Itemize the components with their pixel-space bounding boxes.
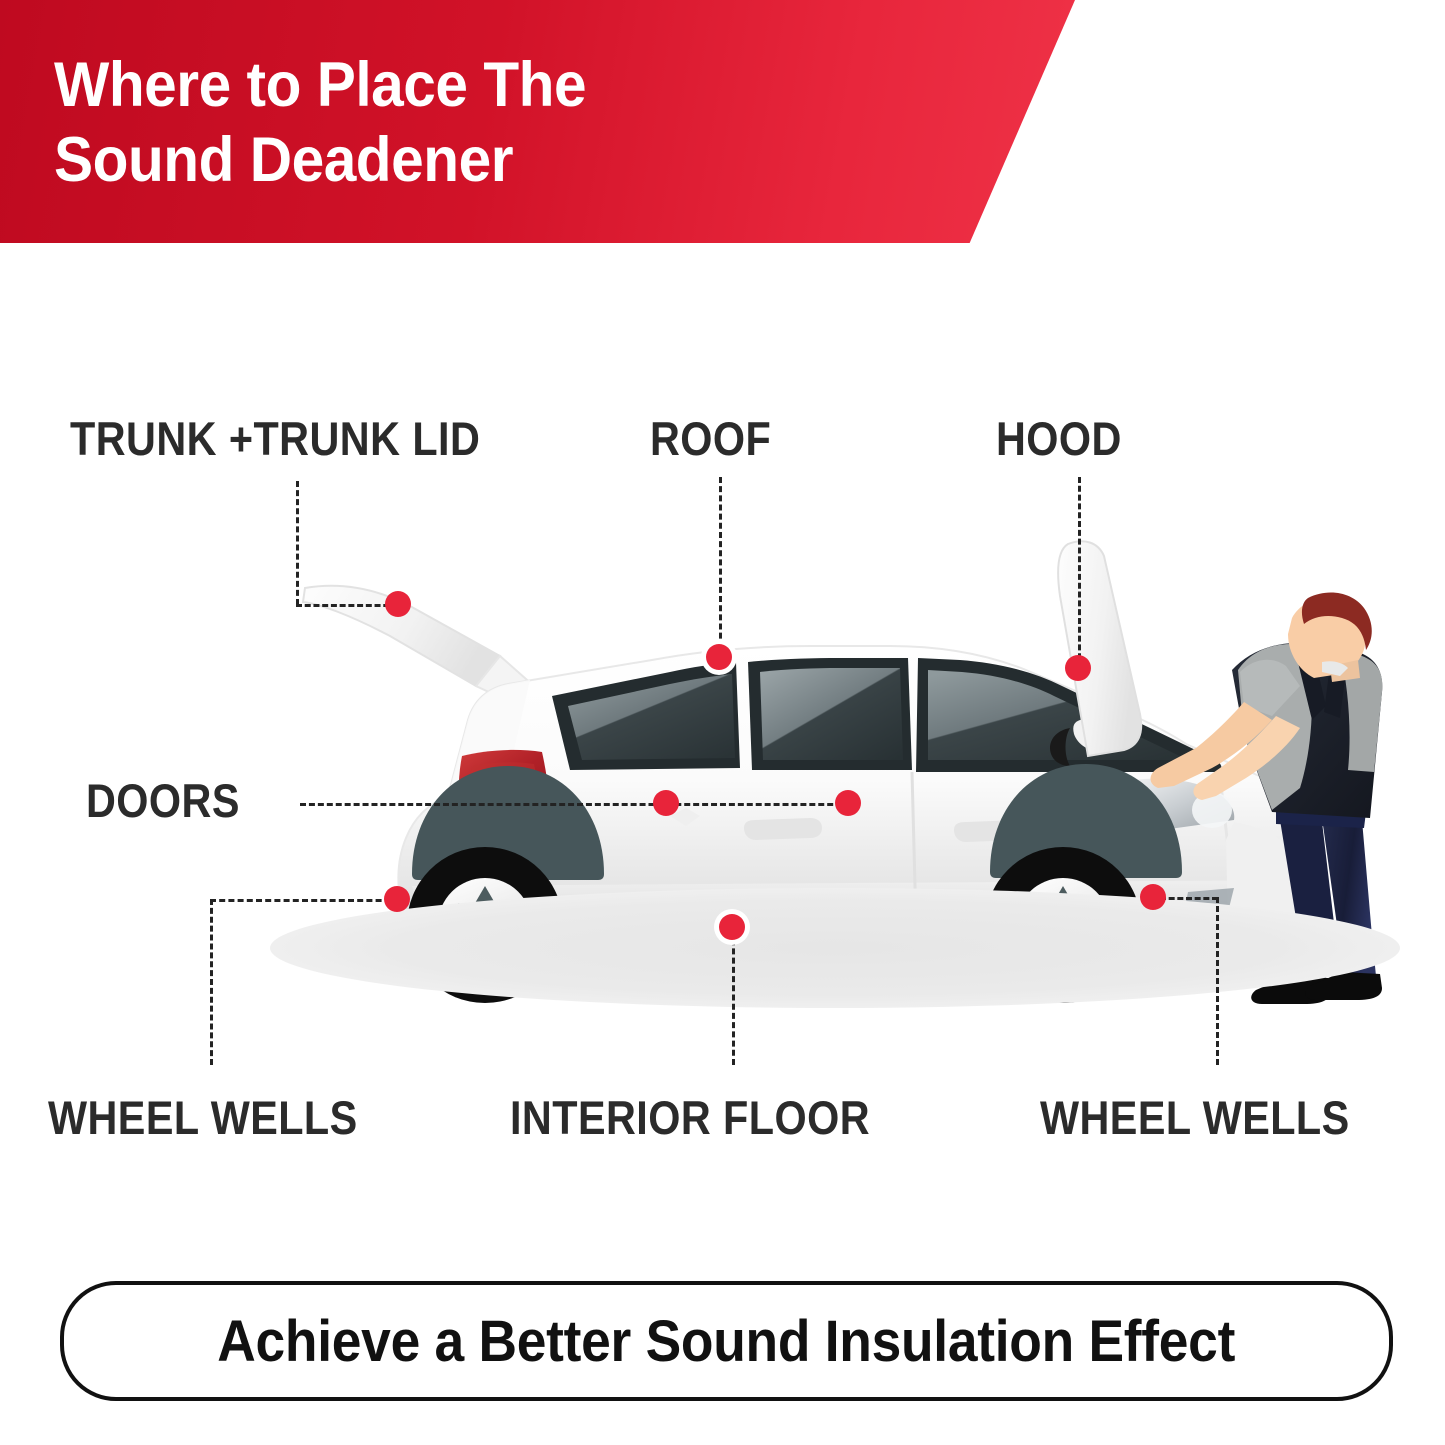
callout-label-wheel-wells-rear: WHEEL WELLS (48, 1094, 358, 1141)
footer-banner: Achieve a Better Sound Insulation Effect (60, 1281, 1393, 1401)
callout-label-roof: ROOF (650, 415, 771, 462)
leader-rear-wheelwell-horizontal (210, 899, 400, 902)
leader-trunk-vertical (296, 481, 299, 605)
roof-dot (706, 644, 732, 670)
rear-door-window-glass (760, 668, 903, 760)
front-wheel-well-dot (1140, 884, 1166, 910)
leader-front-wheelwell-vertical (1216, 897, 1219, 1065)
callout-label-interior-floor: INTERIOR FLOOR (510, 1094, 870, 1141)
front-door-dot (835, 790, 861, 816)
callout-label-trunk: TRUNK +TRUNK LID (70, 415, 480, 462)
ground-shadow (270, 888, 1400, 1008)
callout-label-wheel-wells-front: WHEEL WELLS (1040, 1094, 1350, 1141)
rear-wheel-well-dot (384, 886, 410, 912)
rear-door-handle (744, 818, 822, 840)
hood-dot (1065, 655, 1091, 681)
leader-trunk-horizontal (296, 604, 398, 607)
trunk-lid-dot (385, 591, 411, 617)
callout-label-hood: HOOD (996, 415, 1122, 462)
interior-floor-dot (719, 914, 745, 940)
leader-front-wheelwell-horizontal (1160, 897, 1218, 900)
car-illustration (200, 520, 1430, 1040)
leader-rear-wheelwell-vertical (210, 899, 213, 1065)
leader-interior-floor-vertical (732, 930, 735, 1065)
rear-door-dot (653, 790, 679, 816)
leader-doors-horizontal (300, 803, 860, 806)
footer-banner-text: Achieve a Better Sound Insulation Effect (218, 1308, 1236, 1375)
page-title: Where to Place The Sound Deadener (54, 48, 835, 198)
leader-roof-vertical (719, 477, 722, 657)
callout-label-doors: DOORS (86, 777, 240, 824)
leader-hood-vertical (1078, 477, 1081, 668)
infographic-canvas: Where to Place The Sound Deadener (0, 0, 1445, 1445)
